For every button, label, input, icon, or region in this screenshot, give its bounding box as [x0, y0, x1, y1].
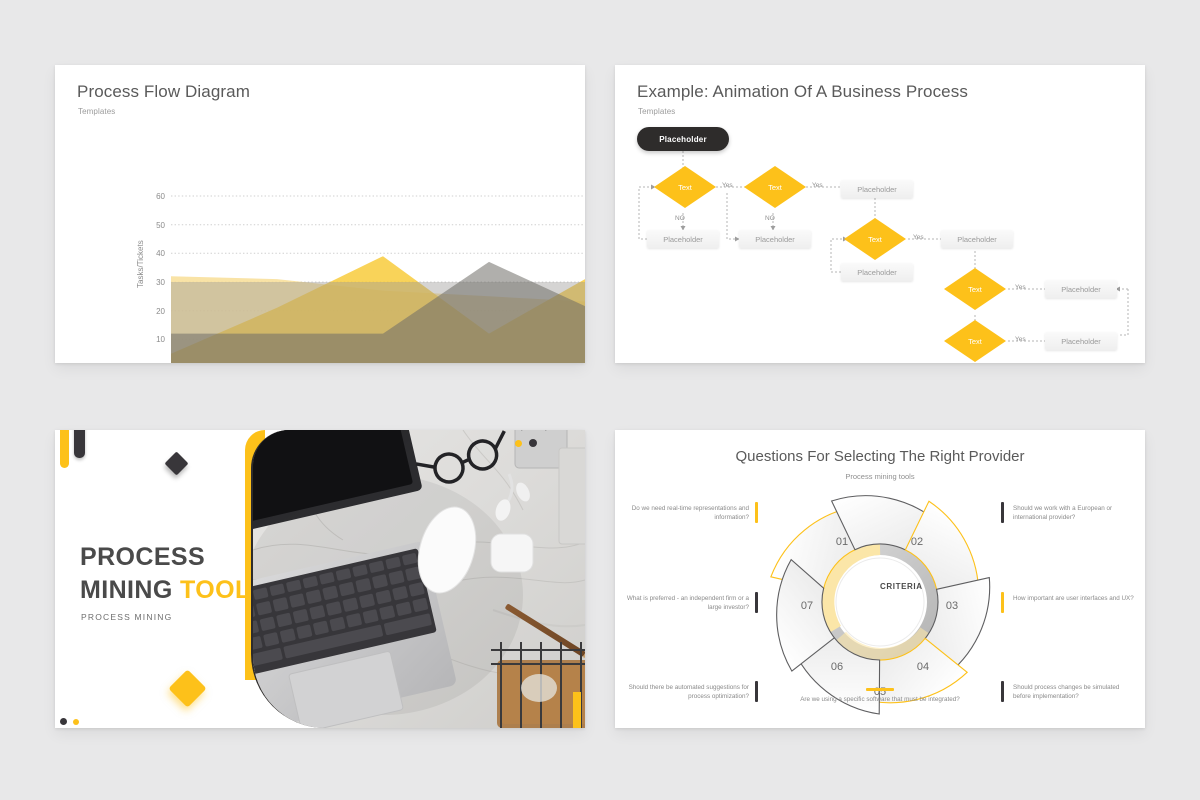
question-left-2: What is preferred - an independent firm … — [625, 594, 749, 613]
slide-subtitle: PROCESS MINING — [81, 612, 172, 622]
question-bar-left-3 — [755, 681, 758, 702]
laptop-desk-photo — [253, 430, 585, 728]
donut-segment-label-04: 04 — [917, 661, 929, 673]
decor-dot-dark-top-right — [529, 439, 537, 447]
flowchart: Placeholder Text Text Text — [615, 65, 1145, 363]
donut-segment-label-03: 03 — [946, 600, 958, 612]
donut-segment-label-02: 02 — [911, 536, 923, 548]
decor-dark-diamond — [164, 451, 188, 475]
title-line-2-main: MINING — [80, 576, 173, 604]
decor-yellow-bar — [60, 430, 69, 468]
chart-canvas — [55, 120, 585, 363]
edge-label-no: NO — [765, 215, 775, 222]
question-bar-left-2 — [755, 592, 758, 613]
slide-process-flow-diagram[interactable]: Process Flow Diagram Templates Tasks/Tic… — [55, 65, 585, 363]
decor-yellow-diamond — [168, 669, 206, 707]
decor-dot-yellow — [73, 719, 79, 725]
question-left-3: Should there be automated suggestions fo… — [625, 683, 749, 702]
question-left-1: Do we need real-time representations and… — [625, 504, 749, 523]
donut-segment-label-01: 01 — [836, 536, 848, 548]
flow-node-decision-2-label: Text — [743, 165, 807, 209]
flow-node-box-2[interactable]: Placeholder — [739, 230, 811, 248]
criteria-donut-chart: 01 02 03 04 05 06 07 — [737, 482, 1023, 722]
decor-dot-yellow-top-right — [515, 440, 522, 447]
page-subtitle: Process mining tools — [615, 472, 1145, 481]
edge-label-yes: Yes — [913, 234, 924, 241]
slide-business-process-animation[interactable]: Example: Animation Of A Business Process… — [615, 65, 1145, 363]
question-bar-right-3 — [1001, 681, 1004, 702]
slide-grid: Process Flow Diagram Templates Tasks/Tic… — [0, 0, 1200, 800]
slide-title-process-mining-tools[interactable]: PROCESS MINING TOOLS PROCESS MINING — [55, 430, 585, 728]
question-bar-right-1 — [1001, 502, 1004, 523]
photo-illustration — [253, 430, 585, 728]
flow-node-box-5[interactable]: Placeholder — [941, 230, 1013, 248]
page-title: Questions For Selecting The Right Provid… — [615, 448, 1145, 465]
area-chart: Tasks/Tickets 0 10 20 30 40 50 60 — [55, 120, 585, 363]
question-bar-right-2 — [1001, 592, 1004, 613]
question-right-2: How important are user interfaces and UX… — [1013, 594, 1137, 603]
edge-label-yes: Yes — [1015, 284, 1026, 291]
decor-dot-dark — [60, 718, 67, 725]
flowchart-connectors — [615, 65, 1145, 363]
donut-segment-label-06: 06 — [831, 661, 843, 673]
page-title: Process Flow Diagram — [77, 82, 250, 102]
edge-label-yes: Yes — [722, 182, 733, 189]
flow-node-decision-1-label: Text — [653, 165, 717, 209]
edge-label-yes: Yes — [1015, 336, 1026, 343]
decor-yellow-bar-bottom-right — [573, 692, 581, 728]
question-right-1: Should we work with a European or intern… — [1013, 504, 1137, 523]
flow-node-decision-3-label: Text — [843, 217, 907, 261]
flow-node-box-1[interactable]: Placeholder — [647, 230, 719, 248]
flow-node-box-4[interactable]: Placeholder — [841, 263, 913, 281]
question-bar-left-1 — [755, 502, 758, 523]
edge-label-no: NO — [675, 215, 685, 222]
flow-node-decision-5-label: Text — [943, 319, 1007, 363]
flow-node-label: Placeholder — [659, 135, 707, 144]
flow-node-box-6[interactable]: Placeholder — [1045, 280, 1117, 298]
page-subtitle: Templates — [78, 107, 115, 116]
flow-node-decision-4-label: Text — [943, 267, 1007, 311]
question-right-3: Should process changes be simulated befo… — [1013, 683, 1137, 702]
donut-segment-label-07: 07 — [801, 600, 813, 612]
flow-node-start[interactable]: Placeholder — [637, 127, 729, 151]
decor-dark-bar — [74, 430, 85, 458]
slide-questions-right-provider[interactable]: Questions For Selecting The Right Provid… — [615, 430, 1145, 728]
title-line-1: PROCESS — [80, 541, 268, 574]
question-bottom: Are we using a specific software that mu… — [800, 695, 960, 704]
flow-node-box-3[interactable]: Placeholder — [841, 180, 913, 198]
edge-label-yes: Yes — [812, 182, 823, 189]
flow-node-box-7[interactable]: Placeholder — [1045, 332, 1117, 350]
question-bar-bottom — [866, 688, 894, 691]
slide-title: PROCESS MINING TOOLS — [80, 541, 268, 608]
title-line-2: MINING TOOLS — [80, 574, 268, 607]
